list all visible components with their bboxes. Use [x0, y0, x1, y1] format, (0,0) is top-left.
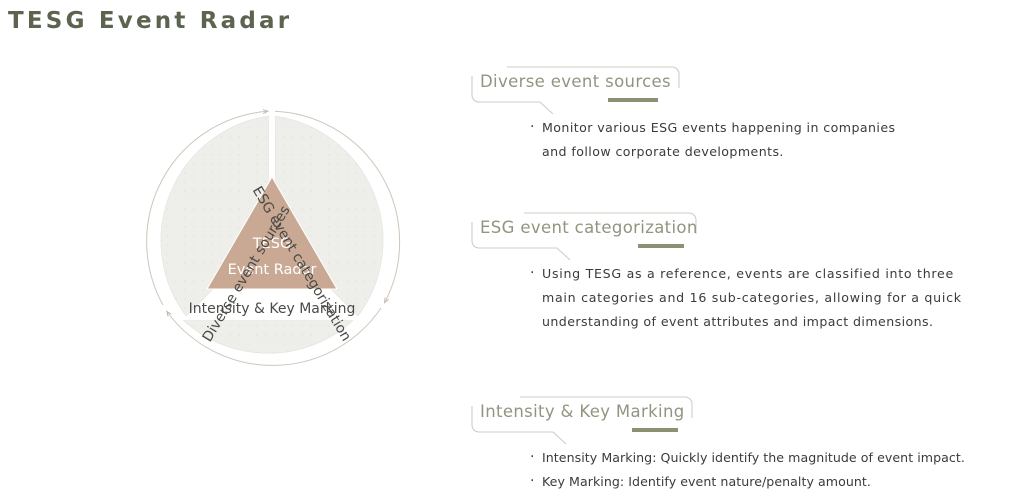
section-heading-wrap: Intensity & Key Marking [460, 392, 1016, 438]
section-diverse-event-sources: Diverse event sources Monitor various ES… [460, 62, 1016, 164]
heading-text: ESG event categorization [480, 218, 698, 237]
bullet-line: main categories and 16 sub-categories, a… [542, 286, 1016, 310]
bullet-line: Intensity Marking: Quickly identify the … [542, 446, 1016, 470]
bullet-item: Using TESG as a reference, events are cl… [530, 262, 1016, 334]
bullet-line: Using TESG as a reference, events are cl… [542, 262, 1016, 286]
bullet-item: Key Marking: Identify event nature/penal… [530, 470, 1016, 494]
bullet-item: Intensity Marking: Quickly identify the … [530, 446, 1016, 470]
section-esg-event-categorization: ESG event categorization Using TESG as a… [460, 208, 1016, 334]
bullet-line: understanding of event attributes and im… [542, 310, 1016, 334]
heading-underline [638, 244, 684, 248]
bullet-line: Key Marking: Identify event nature/penal… [542, 470, 1016, 494]
bullet-item: Monitor various ESG events happening in … [530, 116, 1016, 164]
segment-label-intensity-key-marking: Intensity & Key Marking [189, 301, 356, 317]
tesg-event-radar-diagram: TESG Event Radar Diverse event sources E… [138, 108, 406, 376]
section-body: Monitor various ESG events happening in … [460, 116, 1016, 164]
section-intensity-key-marking: Intensity & Key Marking Intensity Markin… [460, 392, 1016, 494]
bullet-line: and follow corporate developments. [542, 140, 1016, 164]
heading-text: Diverse event sources [480, 72, 671, 91]
heading-underline [608, 98, 658, 102]
page-title: TESG Event Radar [8, 8, 292, 34]
heading-text: Intensity & Key Marking [480, 402, 685, 421]
section-heading-wrap: ESG event categorization [460, 208, 1016, 254]
section-body: Intensity Marking: Quickly identify the … [460, 446, 1016, 494]
section-heading-wrap: Diverse event sources [460, 62, 1016, 108]
bullet-line: Monitor various ESG events happening in … [542, 116, 1016, 140]
section-body: Using TESG as a reference, events are cl… [460, 262, 1016, 334]
heading-underline [632, 428, 678, 432]
content-column: Diverse event sources Monitor various ES… [460, 62, 1016, 494]
